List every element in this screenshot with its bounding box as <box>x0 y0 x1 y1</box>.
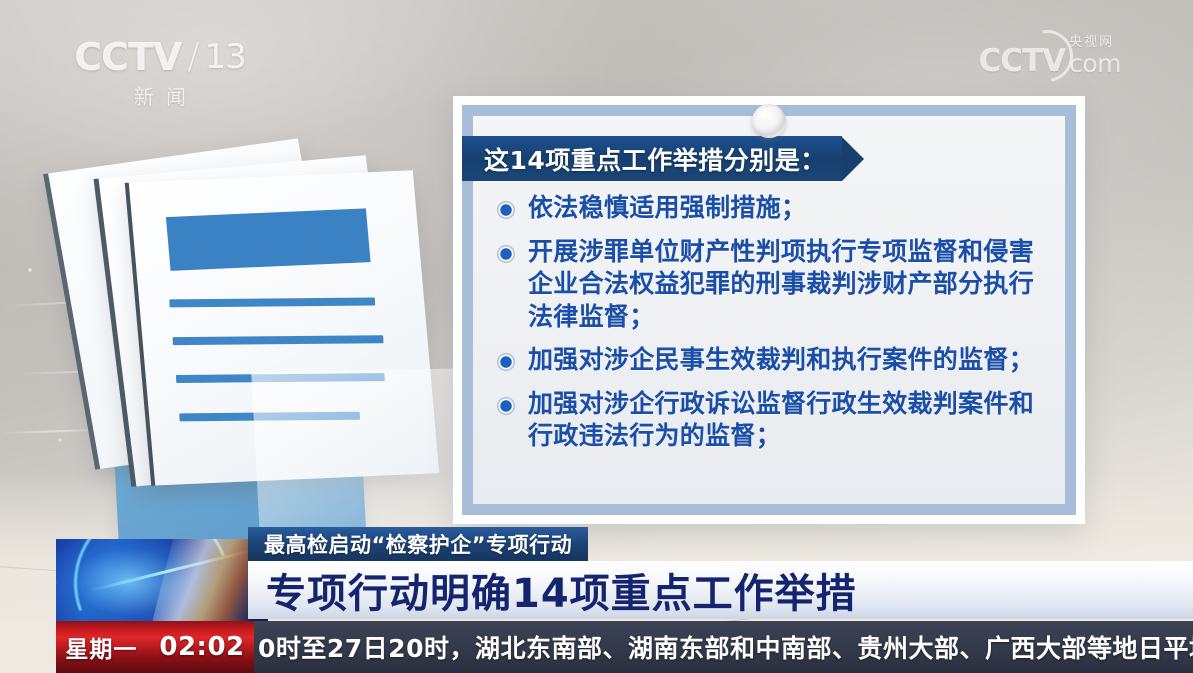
ticker-scroll-text: 0时至27日20时，湖北东南部、湖南东部和中南部、贵州大部、广西大部等地日平均气… <box>254 621 1193 673</box>
watermark-cn-name: 央视网 <box>1069 36 1114 49</box>
ticker-clock-badge: 星期一 02:02 <box>56 621 254 673</box>
lower-third-headline: 专项行动明确14项重点工作举措 <box>248 561 1193 619</box>
document-text-line <box>169 298 375 308</box>
watermark-right-group: 央视网 com <box>1069 36 1121 76</box>
document-header-block <box>166 208 371 271</box>
list-item: 依法稳慎适用强制措施； <box>497 192 1043 225</box>
watermark-arc-icon <box>1011 20 1083 92</box>
panel-header-ribbon: 这14项重点工作举措分别是： <box>462 136 864 181</box>
bullet-dot-icon <box>497 353 515 371</box>
lower-third-kicker: 最高检启动“检察护企”专项行动 <box>248 527 588 561</box>
list-item-text: 加强对涉企行政诉讼监督行政生效裁判案件和行政违法行为的监督； <box>528 388 1043 453</box>
panel-pin-icon <box>752 104 786 138</box>
list-item: 加强对涉企行政诉讼监督行政生效裁判案件和行政违法行为的监督； <box>497 388 1043 453</box>
ticker-time: 02:02 <box>159 632 244 662</box>
panel-header-text: 这14项重点工作举措分别是： <box>462 136 842 181</box>
lower-third-graphic <box>56 539 268 621</box>
list-item-text: 依法稳慎适用强制措施； <box>528 192 806 225</box>
list-item: 加强对涉企民事生效裁判和执行案件的监督； <box>497 344 1043 377</box>
info-panel: 依法稳慎适用强制措施； 开展涉罪单位财产性判项执行专项监督和侵害企业合法权益犯罪… <box>453 96 1085 524</box>
ticker-weekday: 星期一 <box>65 630 137 664</box>
channel-logo-number: 13 <box>204 40 245 74</box>
ribbon-arrow-icon <box>842 137 864 181</box>
bullet-dot-icon <box>497 397 515 415</box>
broadcast-screen: CCTV / 13 新闻 CCTV 央视网 com <box>0 0 1193 673</box>
list-item-text: 加强对涉企民事生效裁判和执行案件的监督； <box>528 344 1034 377</box>
list-item: 开展涉罪单位财产性判项执行专项监督和侵害企业合法权益犯罪的刑事裁判涉财产部分执行… <box>497 236 1043 334</box>
bullet-dot-icon <box>497 245 515 263</box>
document-illustration <box>60 140 480 560</box>
bullet-list: 依法稳慎适用强制措施； 开展涉罪单位财产性判项执行专项监督和侵害企业合法权益犯罪… <box>497 192 1043 453</box>
news-ticker: 星期一 02:02 0时至27日20时，湖北东南部、湖南东部和中南部、贵州大部、… <box>0 621 1193 673</box>
ticker-left-pad <box>0 621 56 673</box>
list-item-text: 开展涉罪单位财产性判项执行专项监督和侵害企业合法权益犯罪的刑事裁判涉财产部分执行… <box>528 236 1043 334</box>
lower-third: 最高检启动“检察护企”专项行动 专项行动明确14项重点工作举措 <box>0 519 1193 621</box>
bullet-dot-icon <box>497 201 515 219</box>
watermark-domain: com <box>1069 51 1121 76</box>
channel-logo-separator: / <box>187 39 198 75</box>
channel-logo: CCTV / 13 新闻 <box>70 38 250 110</box>
channel-logo-subtitle: 新闻 <box>70 81 250 110</box>
channel-logo-brand: CCTV <box>74 38 181 76</box>
channel-logo-main: CCTV / 13 <box>70 38 250 76</box>
document-text-line <box>173 335 384 345</box>
